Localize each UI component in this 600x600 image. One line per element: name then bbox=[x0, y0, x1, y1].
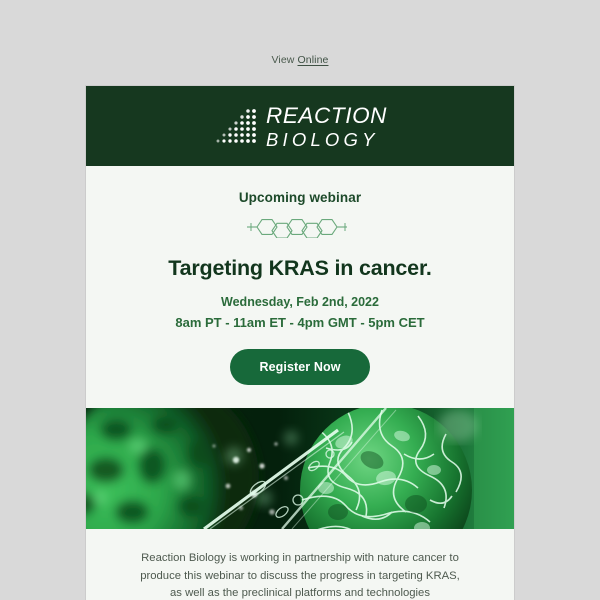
description-line-1: Reaction Biology is working in partnersh… bbox=[120, 550, 480, 568]
email-body-bottom: Reaction Biology is working in partnersh… bbox=[86, 529, 514, 600]
description-line-3: as well as the preclinical platforms and… bbox=[120, 585, 480, 600]
webinar-times: 8am PT - 11am ET - 4pm GMT - 5pm CET bbox=[86, 315, 514, 330]
cta-container: Register Now bbox=[86, 349, 514, 408]
molecule-divider bbox=[245, 216, 355, 238]
logo-line-reaction: REACTION bbox=[266, 105, 387, 128]
email-header: REACTION BIOLOGY bbox=[86, 86, 514, 166]
hero-cell-image bbox=[86, 408, 514, 529]
email-body-top: Upcoming webinar Targ bbox=[86, 166, 514, 408]
preheader: View Online bbox=[0, 54, 600, 66]
preheader-lead-text: View bbox=[272, 54, 298, 66]
register-now-button[interactable]: Register Now bbox=[230, 349, 369, 385]
reaction-biology-logo[interactable]: REACTION BIOLOGY bbox=[213, 105, 387, 149]
email-preview-page: View Online bbox=[0, 0, 600, 600]
logo-wordmark: REACTION BIOLOGY bbox=[266, 105, 387, 149]
webinar-date: Wednesday, Feb 2nd, 2022 bbox=[86, 295, 514, 309]
email-card: REACTION BIOLOGY Upcoming webinar bbox=[86, 86, 514, 600]
webinar-headline: Targeting KRAS in cancer. bbox=[86, 256, 514, 281]
dot-matrix-icon bbox=[213, 106, 259, 149]
logo-line-biology: BIOLOGY bbox=[266, 131, 387, 150]
description-line-2: produce this webinar to discuss the prog… bbox=[120, 568, 480, 586]
eyebrow-label: Upcoming webinar bbox=[86, 190, 514, 205]
view-online-link[interactable]: Online bbox=[298, 54, 329, 66]
